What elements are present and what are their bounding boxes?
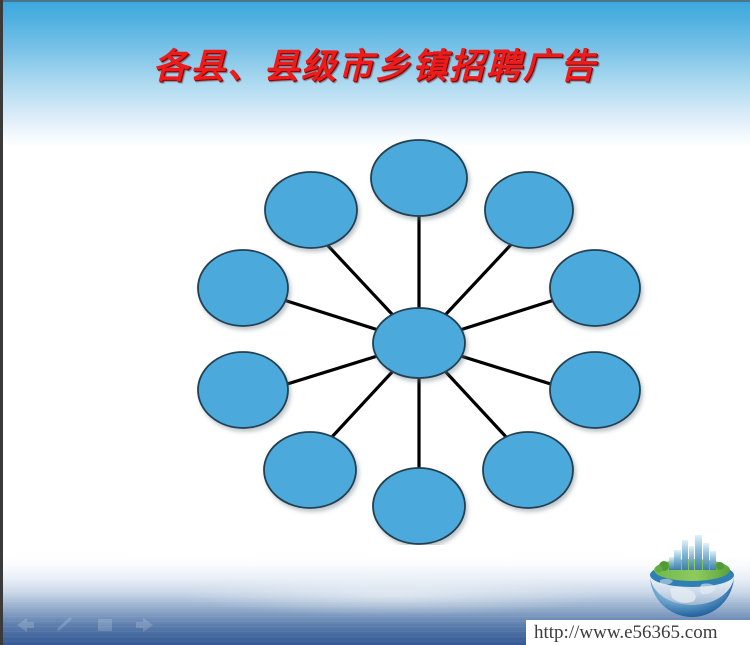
radial-diagram [170, 125, 660, 545]
spoke-node-4[interactable] [550, 352, 640, 428]
spoke-node-9[interactable] [198, 250, 288, 326]
watermark-url-box: http://www.e56365.com [526, 620, 750, 645]
pencil-icon [54, 615, 76, 635]
spoke-node-2[interactable] [485, 172, 573, 248]
earth-city-globe [640, 526, 744, 618]
square-icon [94, 615, 116, 635]
back-arrow-icon [14, 615, 36, 635]
slide-canvas: 各县、县级市乡镇招聘广告 [0, 0, 750, 645]
slide-border-top [0, 0, 750, 2]
radial-diagram-svg [170, 125, 660, 545]
spoke-node-6[interactable] [373, 468, 465, 544]
center-node-group [373, 308, 465, 378]
center-node[interactable] [373, 308, 465, 378]
slide-border-left [0, 0, 3, 645]
forward-arrow-icon [134, 615, 156, 635]
spoke-node-8[interactable] [198, 352, 288, 428]
spoke-node-3[interactable] [550, 250, 640, 326]
spoke-node-1[interactable] [371, 140, 467, 216]
slide-title: 各县、县级市乡镇招聘广告 [0, 38, 750, 89]
watermark-url-text: http://www.e56365.com [534, 622, 717, 644]
spoke-node-5[interactable] [483, 432, 573, 508]
background-glyph-row [14, 615, 156, 635]
spoke-node-7[interactable] [264, 432, 356, 508]
spoke-node-10[interactable] [265, 172, 357, 248]
ocean-highlight [180, 573, 610, 617]
